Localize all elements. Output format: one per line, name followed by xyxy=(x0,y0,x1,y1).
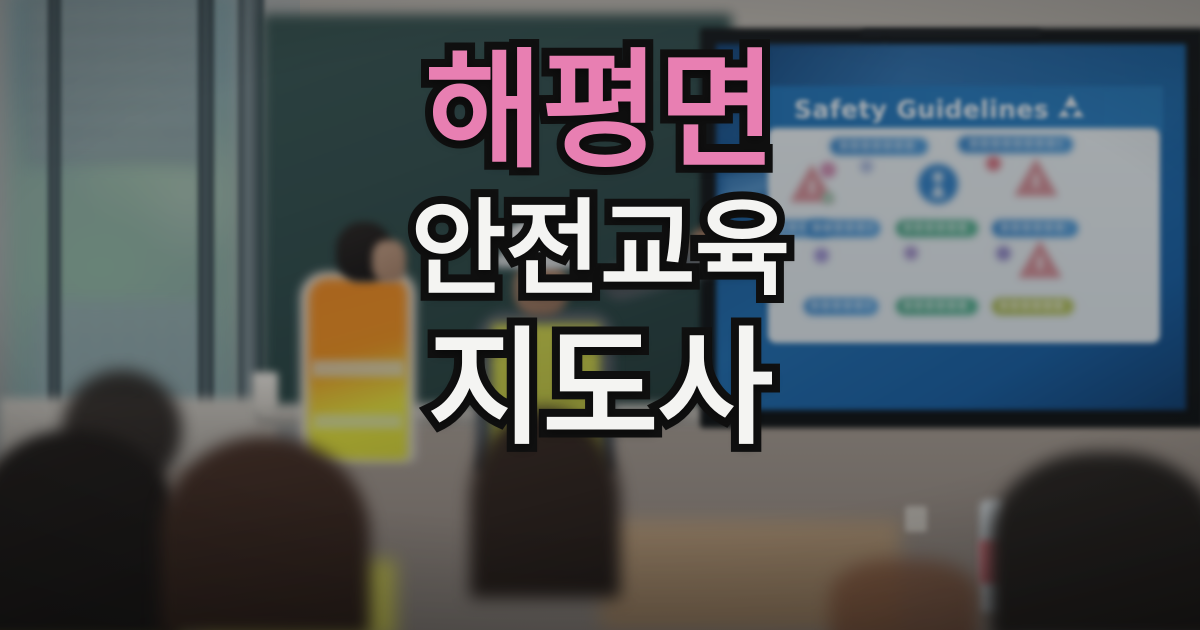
banner-image: Safety Guidelines xyxy=(0,0,1200,630)
headline-line-2: 안전교육 xyxy=(411,198,790,302)
headline-line-1: 해평면 xyxy=(425,48,775,176)
headline-overlay: 해평면 안전교육 지도사 xyxy=(0,0,1200,630)
headline-line-3: 지도사 xyxy=(428,326,773,452)
